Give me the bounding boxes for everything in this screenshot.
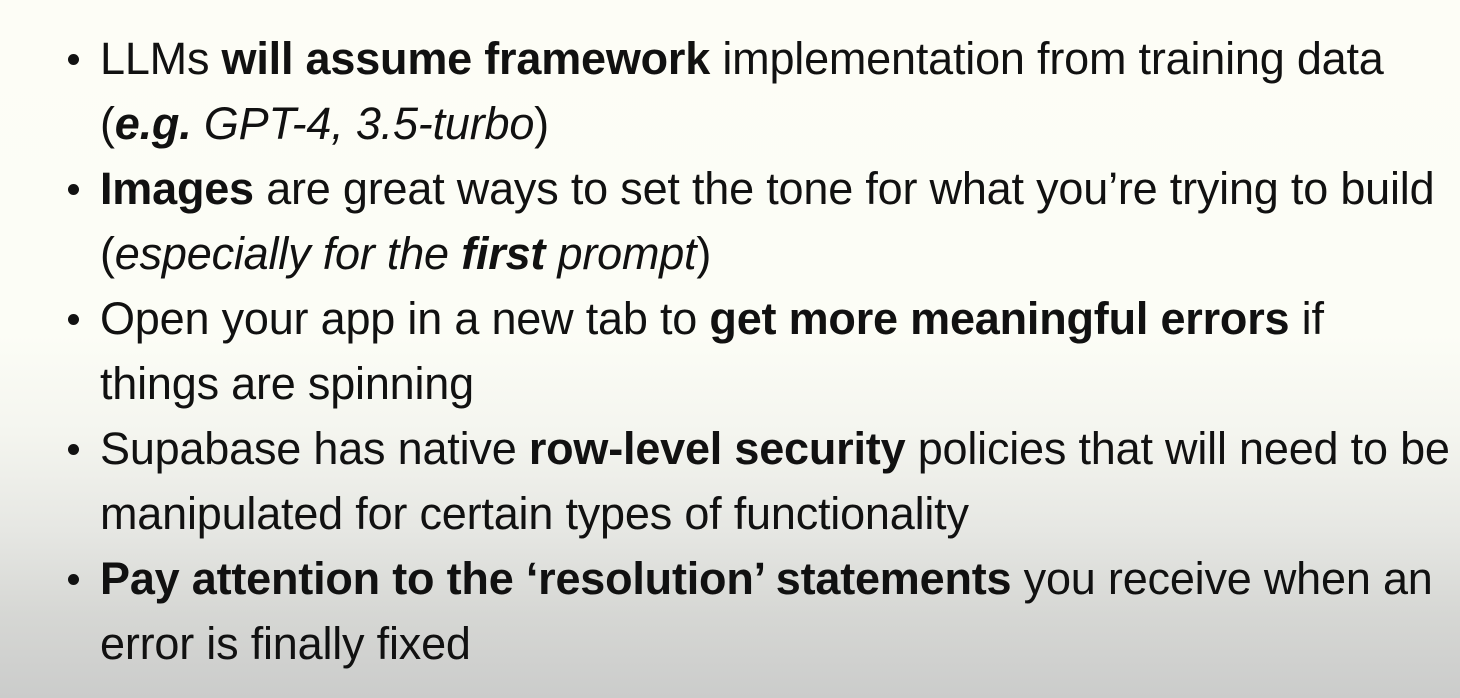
bullet-point-icon: [68, 286, 80, 351]
bullet-item-text: Supabase has native row-level security p…: [100, 416, 1450, 546]
list-item: Open your app in a new tab to get more m…: [0, 286, 1460, 416]
bullet-item-text: LLMs will assume framework implementatio…: [100, 26, 1450, 156]
bullet-item-text: Pay attention to the ‘resolution’ statem…: [100, 546, 1450, 676]
bullet-point-icon: [68, 156, 80, 221]
bullet-item-text: Images are great ways to set the tone fo…: [100, 156, 1450, 286]
slide-canvas: LLMs will assume framework implementatio…: [0, 0, 1460, 698]
bullet-list: LLMs will assume framework implementatio…: [0, 0, 1460, 676]
bullet-item-text: Open your app in a new tab to get more m…: [100, 286, 1450, 416]
list-item: Images are great ways to set the tone fo…: [0, 156, 1460, 286]
bullet-point-icon: [68, 26, 80, 91]
bullet-point-icon: [68, 416, 80, 481]
list-item: Pay attention to the ‘resolution’ statem…: [0, 546, 1460, 676]
list-item: Supabase has native row-level security p…: [0, 416, 1460, 546]
bullet-point-icon: [68, 546, 80, 611]
list-item: LLMs will assume framework implementatio…: [0, 26, 1460, 156]
